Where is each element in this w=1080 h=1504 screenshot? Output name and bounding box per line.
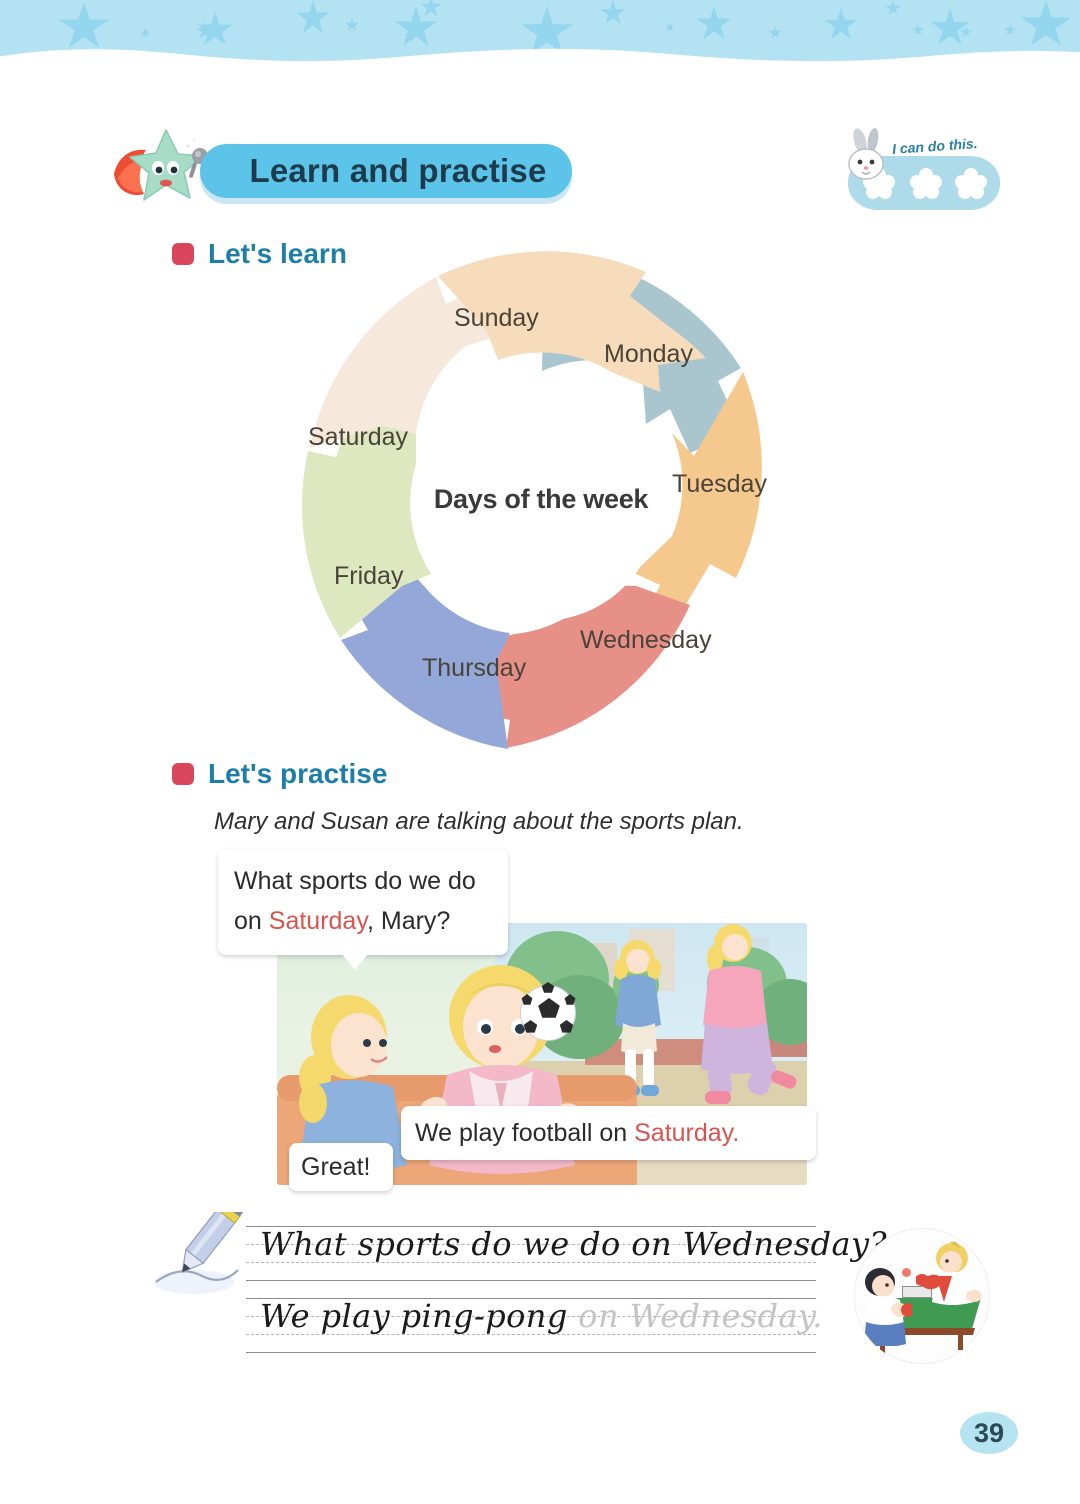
ping-pong-ball [902,1268,911,1277]
day-label-tuesday: Tuesday [672,470,767,499]
section-heading-practise: Let's practise [172,758,387,790]
question-text-after: , Mary? [367,907,450,935]
speech-bubble-answer: We play football on Saturday. [401,1106,816,1160]
table-leg [958,1328,963,1350]
handwriting-line[interactable]: What sports do we do on Wednesday? [246,1222,816,1284]
flower-stamp-icon[interactable] [954,167,988,201]
day-label-saturday: Saturday [308,423,408,452]
ping-pong-player-left [856,1266,912,1346]
bubble-tail [342,954,368,970]
i-can-do-this-badge: I can do this. [834,122,1014,222]
answer-text-before: We play football on [415,1119,634,1147]
days-of-week-cycle-diagram: Days of the week Sunday Monday Tuesday W… [286,248,796,758]
page-header: Learn and practise [0,118,1080,218]
day-label-wednesday: Wednesday [580,626,712,655]
day-label-monday: Monday [604,340,693,369]
rule-line-bottom [246,1280,816,1281]
day-label-sunday: Sunday [454,304,539,333]
pencil-icon [146,1212,252,1300]
practise-caption: Mary and Susan are talking about the spo… [214,808,744,836]
banner-wave-edge [0,38,1080,68]
speech-bubble-reply: Great! [289,1143,393,1191]
answer-highlight: Saturday. [634,1119,739,1147]
flower-stamp-icon[interactable] [909,167,943,201]
page-title: Learn and practise [218,146,578,196]
handwriting-solid-2: We play ping-pong [260,1297,578,1335]
handwriting-text-1: What sports do we do on Wednesday? [260,1225,887,1263]
ping-pong-players-icon [854,1228,990,1364]
question-highlight: Saturday [269,907,367,935]
handwriting-line[interactable]: We play ping-pong on Wednesday. [246,1294,816,1356]
section-label-practise: Let's practise [208,758,387,790]
bullet-icon [172,763,194,785]
football-icon [520,985,576,1041]
handwriting-solid-1: What sports do we do on Wednesday? [260,1225,887,1263]
background-girl-pink [675,923,807,1119]
badge-caption: I can do this. [892,135,978,157]
handwriting-practice-block: What sports do we do on Wednesday? We pl… [246,1222,816,1366]
top-decorative-banner [0,0,1080,68]
reply-text: Great! [301,1153,370,1181]
bunny-icon [840,128,894,186]
ping-pong-player-right [916,1240,984,1322]
bullet-icon [172,243,194,265]
rule-line-bottom [246,1352,816,1353]
handwriting-faded-2: on Wednesday. [578,1297,822,1335]
page-number: 39 [960,1412,1018,1454]
day-label-friday: Friday [334,562,403,591]
speech-bubble-question: What sports do we do on Saturday, Mary? [218,849,508,955]
handwriting-text-2: We play ping-pong on Wednesday. [260,1297,823,1335]
day-label-thursday: Thursday [422,654,526,683]
